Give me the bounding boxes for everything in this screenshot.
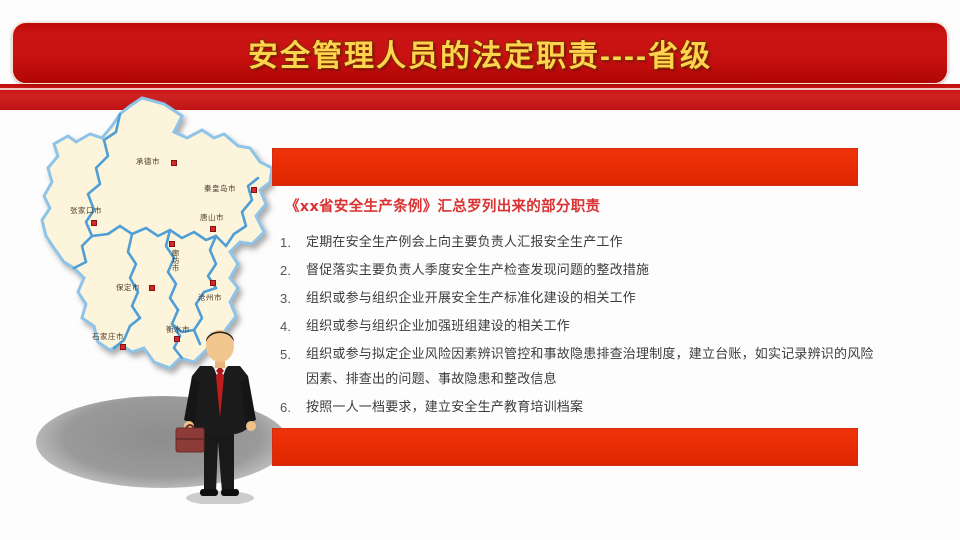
- city-label-zhangjiakou: 张家口市: [70, 205, 102, 216]
- list-item-number: 2.: [280, 258, 306, 283]
- city-label-shijiazhuang: 石家庄市: [92, 331, 124, 342]
- page-title: 安全管理人员的法定职责----省级: [248, 31, 712, 75]
- list-item: 1. 定期在安全生产例会上向主要负责人汇报安全生产工作: [280, 230, 880, 255]
- city-marker-shijiazhuang: [120, 344, 126, 350]
- city-marker-zhangjiakou: [91, 220, 97, 226]
- city-marker-langfang: [169, 241, 175, 247]
- list-item: 5. 组织或参与拟定企业风险因素辨识管控和事故隐患排查治理制度，建立台账，如实记…: [280, 342, 880, 392]
- list-item-text: 按照一人一档要求，建立安全生产教育培训档案: [306, 395, 880, 420]
- list-item-text: 定期在安全生产例会上向主要负责人汇报安全生产工作: [306, 230, 880, 255]
- slide-root: 安全管理人员的法定职责----省级: [0, 0, 960, 540]
- city-marker-tangshan: [210, 226, 216, 232]
- list-item-number: 5.: [280, 342, 306, 367]
- city-marker-cangzhou: [210, 280, 216, 286]
- list-item: 3. 组织或参与组织企业开展安全生产标准化建设的相关工作: [280, 286, 880, 311]
- list-item-number: 4.: [280, 314, 306, 339]
- businessman-figure: [174, 322, 266, 504]
- list-item: 2. 督促落实主要负责人季度安全生产检查发现问题的整改措施: [280, 258, 880, 283]
- list-item-text: 组织或参与组织企业加强班组建设的相关工作: [306, 314, 880, 339]
- city-label-qinhuangdao: 秦皇岛市: [204, 183, 236, 194]
- content-block: 《xx省安全生产条例》汇总罗列出来的部分职责 1. 定期在安全生产例会上向主要负…: [280, 195, 880, 423]
- city-label-tangshan: 唐山市: [200, 212, 224, 223]
- list-item-number: 3.: [280, 286, 306, 311]
- list-item-text: 督促落实主要负责人季度安全生产检查发现问题的整改措施: [306, 258, 880, 283]
- city-marker-qinhuangdao: [251, 187, 257, 193]
- city-label-baoding: 保定市: [116, 282, 140, 293]
- province-map: 承德市 秦皇岛市 唐山市 张家口市 廊坊市 保定市 沧州市 衡水市 石家庄市: [24, 86, 304, 486]
- city-label-cangzhou: 沧州市: [198, 292, 222, 303]
- accent-bar-top: [272, 148, 858, 186]
- slide-title-box: 安全管理人员的法定职责----省级: [12, 22, 948, 84]
- list-item-text: 组织或参与拟定企业风险因素辨识管控和事故隐患排查治理制度，建立台账，如实记录辨识…: [306, 342, 880, 392]
- city-marker-baoding: [149, 285, 155, 291]
- list-item: 6. 按照一人一档要求，建立安全生产教育培训档案: [280, 395, 880, 420]
- city-marker-chengde: [171, 160, 177, 166]
- city-label-langfang: 廊坊市: [170, 249, 181, 272]
- duties-list: 1. 定期在安全生产例会上向主要负责人汇报安全生产工作 2. 督促落实主要负责人…: [280, 230, 880, 420]
- list-item-number: 1.: [280, 230, 306, 255]
- list-item-text: 组织或参与组织企业开展安全生产标准化建设的相关工作: [306, 286, 880, 311]
- city-label-chengde: 承德市: [136, 156, 160, 167]
- list-item-number: 6.: [280, 395, 306, 420]
- accent-bar-bottom: [272, 428, 858, 466]
- list-item: 4. 组织或参与组织企业加强班组建设的相关工作: [280, 314, 880, 339]
- content-heading: 《xx省安全生产条例》汇总罗列出来的部分职责: [285, 195, 880, 216]
